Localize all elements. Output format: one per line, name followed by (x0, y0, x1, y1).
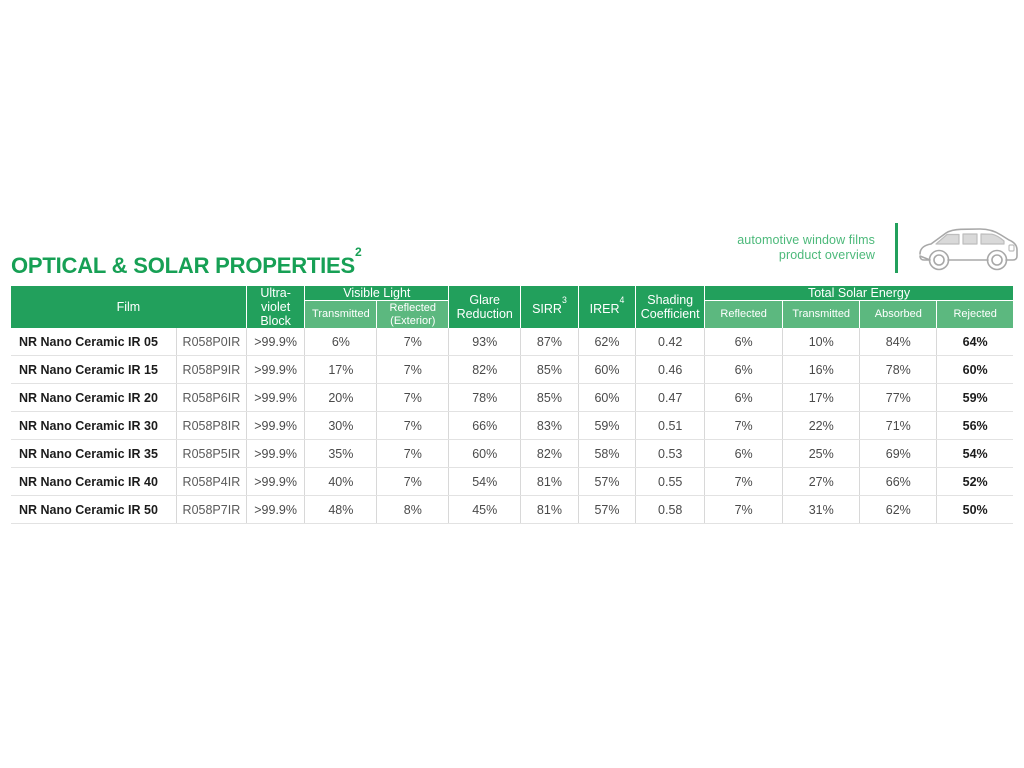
header-tse-transmitted: Transmitted (783, 301, 860, 328)
cell-tse-absorbed: 77% (860, 384, 937, 412)
cell-vl-reflected: 7% (377, 384, 449, 412)
cell-film-code: R058P5IR (176, 440, 246, 468)
cell-glare-reduction: 93% (449, 328, 521, 356)
branding-line-2: product overview (737, 248, 875, 263)
cell-uv-block: >99.9% (246, 328, 305, 356)
cell-tse-rejected: 60% (937, 356, 1013, 384)
branding-line-1: automotive window films (737, 233, 875, 248)
table-row: NR Nano Ceramic IR 40R058P4IR>99.9%40%7%… (11, 468, 1013, 496)
cell-film-code: R058P7IR (176, 496, 246, 524)
table-row: NR Nano Ceramic IR 30R058P8IR>99.9%30%7%… (11, 412, 1013, 440)
cell-uv-block: >99.9% (246, 412, 305, 440)
cell-vl-transmitted: 40% (305, 468, 377, 496)
cell-shading-coefficient: 0.46 (636, 356, 705, 384)
cell-irer: 60% (578, 384, 636, 412)
cell-tse-reflected: 7% (705, 496, 783, 524)
header-visible-light-reflected: Reflected (Exterior) (377, 301, 449, 328)
header-uv-block: Ultra-violet Block (246, 286, 305, 328)
cell-vl-reflected: 7% (377, 356, 449, 384)
header-shading-coefficient: Shading Coefficient (636, 286, 705, 328)
cell-tse-rejected: 59% (937, 384, 1013, 412)
product-datasheet-page: automotive window films product overview… (0, 0, 1024, 768)
cell-tse-absorbed: 78% (860, 356, 937, 384)
cell-tse-rejected: 50% (937, 496, 1013, 524)
cell-glare-reduction: 60% (449, 440, 521, 468)
cell-film-code: R058P0IR (176, 328, 246, 356)
cell-vl-transmitted: 20% (305, 384, 377, 412)
cell-tse-reflected: 7% (705, 412, 783, 440)
cell-vl-transmitted: 17% (305, 356, 377, 384)
cell-film-name: NR Nano Ceramic IR 05 (11, 328, 176, 356)
cell-vl-transmitted: 30% (305, 412, 377, 440)
cell-tse-transmitted: 10% (783, 328, 860, 356)
cell-sirr: 81% (521, 468, 579, 496)
table-row: NR Nano Ceramic IR 35R058P5IR>99.9%35%7%… (11, 440, 1013, 468)
cell-sirr: 82% (521, 440, 579, 468)
cell-uv-block: >99.9% (246, 496, 305, 524)
cell-film-code: R058P4IR (176, 468, 246, 496)
header-glare-reduction: Glare Reduction (449, 286, 521, 328)
cell-vl-reflected: 8% (377, 496, 449, 524)
cell-sirr: 81% (521, 496, 579, 524)
header-tse-reflected: Reflected (705, 301, 783, 328)
cell-vl-transmitted: 35% (305, 440, 377, 468)
header-total-solar-energy: Total Solar Energy (705, 286, 1013, 301)
header-irer-text: IRER (590, 302, 620, 316)
cell-tse-rejected: 56% (937, 412, 1013, 440)
cell-glare-reduction: 54% (449, 468, 521, 496)
table-body: NR Nano Ceramic IR 05R058P0IR>99.9%6%7%9… (11, 328, 1013, 524)
cell-film-name: NR Nano Ceramic IR 20 (11, 384, 176, 412)
cell-shading-coefficient: 0.51 (636, 412, 705, 440)
cell-tse-rejected: 64% (937, 328, 1013, 356)
cell-tse-reflected: 6% (705, 440, 783, 468)
cell-irer: 59% (578, 412, 636, 440)
cell-vl-reflected: 7% (377, 440, 449, 468)
cell-film-name: NR Nano Ceramic IR 35 (11, 440, 176, 468)
header-sirr: SIRR3 (521, 286, 579, 328)
cell-glare-reduction: 45% (449, 496, 521, 524)
optical-solar-properties-table: Film Ultra-violet Block Visible Light Gl… (11, 286, 1013, 524)
header-tse-absorbed: Absorbed (860, 301, 937, 328)
cell-film-code: R058P9IR (176, 356, 246, 384)
cell-vl-transmitted: 6% (305, 328, 377, 356)
cell-tse-transmitted: 22% (783, 412, 860, 440)
table-row: NR Nano Ceramic IR 50R058P7IR>99.9%48%8%… (11, 496, 1013, 524)
header-tse-rejected: Rejected (937, 301, 1013, 328)
branding-block: automotive window films product overview (700, 216, 1020, 280)
table-row: NR Nano Ceramic IR 15R058P9IR>99.9%17%7%… (11, 356, 1013, 384)
cell-shading-coefficient: 0.42 (636, 328, 705, 356)
header-visible-light-transmitted: Transmitted (305, 301, 377, 328)
cell-film-name: NR Nano Ceramic IR 15 (11, 356, 176, 384)
cell-sirr: 87% (521, 328, 579, 356)
cell-tse-transmitted: 25% (783, 440, 860, 468)
cell-tse-reflected: 6% (705, 328, 783, 356)
cell-tse-rejected: 52% (937, 468, 1013, 496)
page-title-superscript: 2 (355, 245, 362, 259)
cell-irer: 57% (578, 468, 636, 496)
cell-uv-block: >99.9% (246, 468, 305, 496)
cell-irer: 57% (578, 496, 636, 524)
cell-tse-transmitted: 27% (783, 468, 860, 496)
cell-irer: 62% (578, 328, 636, 356)
cell-tse-absorbed: 84% (860, 328, 937, 356)
cell-tse-absorbed: 62% (860, 496, 937, 524)
header-irer-superscript: 4 (619, 295, 624, 305)
cell-vl-reflected: 7% (377, 468, 449, 496)
header-film: Film (11, 286, 246, 328)
cell-tse-transmitted: 17% (783, 384, 860, 412)
cell-glare-reduction: 82% (449, 356, 521, 384)
table-row: NR Nano Ceramic IR 05R058P0IR>99.9%6%7%9… (11, 328, 1013, 356)
cell-uv-block: >99.9% (246, 384, 305, 412)
cell-tse-absorbed: 71% (860, 412, 937, 440)
header-visible-light: Visible Light (305, 286, 449, 301)
cell-shading-coefficient: 0.55 (636, 468, 705, 496)
cell-vl-transmitted: 48% (305, 496, 377, 524)
cell-sirr: 85% (521, 384, 579, 412)
table-row: NR Nano Ceramic IR 20R058P6IR>99.9%20%7%… (11, 384, 1013, 412)
cell-tse-transmitted: 31% (783, 496, 860, 524)
cell-vl-reflected: 7% (377, 328, 449, 356)
cell-tse-rejected: 54% (937, 440, 1013, 468)
car-side-icon (916, 220, 1020, 276)
vertical-rule-divider (895, 223, 898, 273)
cell-uv-block: >99.9% (246, 440, 305, 468)
cell-sirr: 83% (521, 412, 579, 440)
cell-tse-reflected: 7% (705, 468, 783, 496)
cell-tse-reflected: 6% (705, 384, 783, 412)
header-irer: IRER4 (578, 286, 636, 328)
properties-table-wrapper: Film Ultra-violet Block Visible Light Gl… (11, 286, 1013, 524)
table-header-row-top: Film Ultra-violet Block Visible Light Gl… (11, 286, 1013, 301)
cell-irer: 58% (578, 440, 636, 468)
cell-irer: 60% (578, 356, 636, 384)
header-sirr-text: SIRR (532, 302, 562, 316)
cell-film-name: NR Nano Ceramic IR 30 (11, 412, 176, 440)
cell-tse-transmitted: 16% (783, 356, 860, 384)
cell-shading-coefficient: 0.47 (636, 384, 705, 412)
cell-film-code: R058P8IR (176, 412, 246, 440)
branding-text: automotive window films product overview (737, 233, 875, 263)
cell-film-name: NR Nano Ceramic IR 50 (11, 496, 176, 524)
cell-glare-reduction: 66% (449, 412, 521, 440)
cell-vl-reflected: 7% (377, 412, 449, 440)
header-sirr-superscript: 3 (562, 295, 567, 305)
cell-film-name: NR Nano Ceramic IR 40 (11, 468, 176, 496)
cell-tse-absorbed: 66% (860, 468, 937, 496)
cell-glare-reduction: 78% (449, 384, 521, 412)
cell-sirr: 85% (521, 356, 579, 384)
cell-film-code: R058P6IR (176, 384, 246, 412)
page-title-text: OPTICAL & SOLAR PROPERTIES (11, 253, 355, 278)
cell-shading-coefficient: 0.58 (636, 496, 705, 524)
cell-tse-absorbed: 69% (860, 440, 937, 468)
page-title: OPTICAL & SOLAR PROPERTIES2 (11, 253, 362, 279)
cell-uv-block: >99.9% (246, 356, 305, 384)
cell-tse-reflected: 6% (705, 356, 783, 384)
cell-shading-coefficient: 0.53 (636, 440, 705, 468)
